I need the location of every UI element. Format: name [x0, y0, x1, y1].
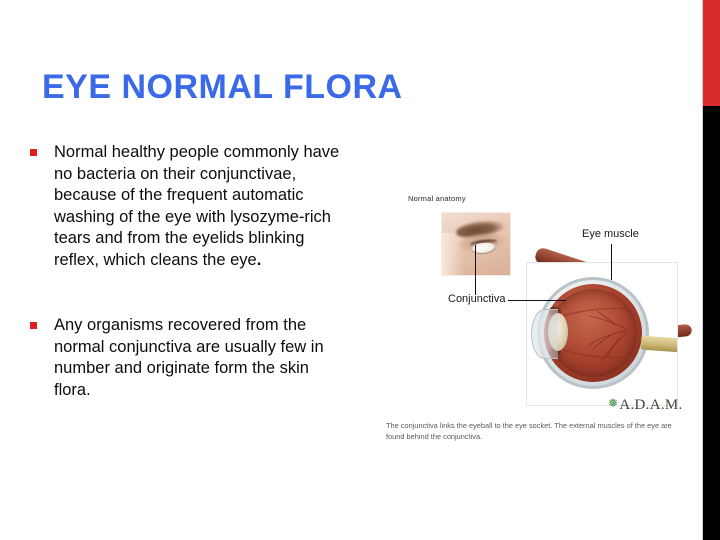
bullet-text: Any organisms recovered from the normal … [54, 315, 350, 401]
edge-accent-bar-black [703, 106, 720, 540]
bullet-text-main: Normal healthy people commonly have no b… [54, 143, 339, 269]
optic-nerve [641, 336, 678, 353]
figure-heading: Normal anatomy [408, 194, 466, 203]
eyeball-cross-section [526, 262, 678, 406]
bullet-marker-icon [30, 322, 37, 329]
conjunctiva-photo-leader-line [475, 245, 476, 295]
adam-logo-text: A.D.A.M. [619, 397, 682, 413]
eye-anatomy-figure: Normal anatomy [386, 190, 686, 450]
slide-canvas: Eye Normal Flora Normal healthy people c… [0, 0, 720, 540]
eye-muscle-leader-line [611, 244, 612, 280]
bullet-marker-icon [30, 149, 37, 156]
bullet-list: Normal healthy people commonly have no b… [30, 142, 350, 445]
eye-photograph [441, 212, 511, 276]
conjunctiva-leader-line [508, 300, 566, 301]
page-title: Eye Normal Flora [42, 68, 403, 107]
figure-caption: The conjunctiva links the eyeball to the… [386, 420, 676, 442]
edge-accent-bar-red [703, 0, 720, 106]
bullet-text-tail: . [257, 251, 262, 269]
cornea [531, 309, 558, 359]
label-conjunctiva: Conjunctiva [448, 293, 505, 305]
bullet-text-main: Any organisms recovered from the normal … [54, 316, 324, 399]
label-eye-muscle: Eye muscle [582, 228, 639, 240]
adam-logo: ❅A.D.A.M. [608, 396, 683, 414]
bullet-text: Normal healthy people commonly have no b… [54, 142, 350, 271]
list-item: Any organisms recovered from the normal … [30, 315, 350, 401]
list-item: Normal healthy people commonly have no b… [30, 142, 350, 271]
leaf-icon: ❅ [608, 396, 618, 410]
